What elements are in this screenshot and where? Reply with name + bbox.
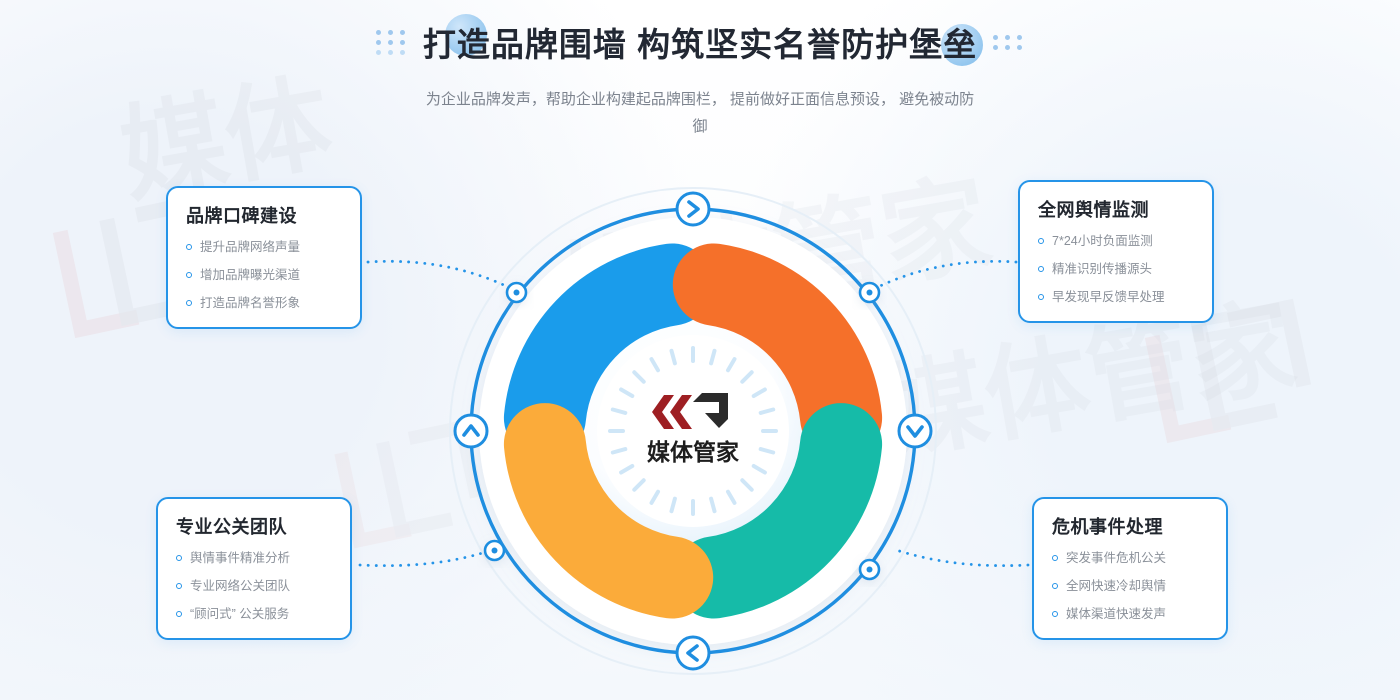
- node-right[interactable]: [899, 415, 931, 447]
- card-item-list: 突发事件危机公关 全网快速冷却舆情 媒体渠道快速发声: [1052, 550, 1210, 622]
- node-left[interactable]: [455, 415, 487, 447]
- bullet-icon: [176, 583, 182, 589]
- bullet-icon: [1038, 294, 1044, 300]
- page-title: 打造品牌围墙 构筑坚实名誉防护堡垒: [423, 18, 977, 66]
- card-title: 危机事件处理: [1052, 513, 1210, 539]
- list-item-label: 媒体渠道快速发声: [1066, 607, 1166, 621]
- bullet-icon: [1052, 555, 1058, 561]
- list-item-label: 提升品牌网络声量: [200, 240, 300, 254]
- bullet-icon: [1038, 238, 1044, 244]
- logo-plate: [597, 335, 789, 527]
- bullet-icon: [186, 272, 192, 278]
- list-item: 媒体渠道快速发声: [1052, 606, 1210, 622]
- page-header: 打造品牌围墙 构筑坚实名誉防护堡垒 为企业品牌发声，帮助企业构建起品牌围栏， 提…: [0, 18, 1400, 140]
- list-item: 精准识别传播源头: [1038, 261, 1196, 277]
- bullet-icon: [1052, 611, 1058, 617]
- brand-wordmark: 媒体管家: [647, 439, 739, 466]
- list-item-label: 精准识别传播源头: [1052, 262, 1152, 276]
- list-item: 舆情事件精准分析: [176, 550, 334, 566]
- list-item: 专业网络公关团队: [176, 578, 334, 594]
- list-item-label: 打造品牌名誉形象: [200, 296, 300, 310]
- card-item-list: 舆情事件精准分析 专业网络公关团队 “顾问式” 公关服务: [176, 550, 334, 622]
- list-item-label: 早发现早反馈早处理: [1052, 290, 1165, 304]
- ring-node-top-left[interactable]: [507, 283, 526, 302]
- card-item-list: 7*24小时负面监测 精准识别传播源头 早发现早反馈早处理: [1038, 233, 1196, 305]
- card-crisis-handling[interactable]: 危机事件处理 突发事件危机公关 全网快速冷却舆情 媒体渠道快速发声: [1032, 497, 1228, 640]
- list-item-label: “顾问式” 公关服务: [190, 607, 289, 621]
- card-brand-reputation[interactable]: 品牌口碑建设 提升品牌网络声量 增加品牌曝光渠道 打造品牌名誉形象: [166, 186, 362, 329]
- card-title: 品牌口碑建设: [186, 202, 344, 228]
- node-top[interactable]: [677, 193, 709, 225]
- list-item: “顾问式” 公关服务: [176, 606, 334, 622]
- bullet-icon: [1052, 583, 1058, 589]
- list-item: 7*24小时负面监测: [1038, 233, 1196, 249]
- bullet-icon: [176, 555, 182, 561]
- bullet-icon: [1038, 266, 1044, 272]
- node-bottom[interactable]: [677, 637, 709, 669]
- bullet-icon: [176, 611, 182, 617]
- bullet-icon: [186, 244, 192, 250]
- list-item: 突发事件危机公关: [1052, 550, 1210, 566]
- list-item-label: 7*24小时负面监测: [1052, 234, 1153, 248]
- decorative-dot-grid-right: [993, 35, 1024, 50]
- title-row: 打造品牌围墙 构筑坚实名誉防护堡垒: [376, 18, 1024, 66]
- page-subtitle: 为企业品牌发声，帮助企业构建起品牌围栏， 提前做好正面信息预设， 避免被动防御: [420, 86, 980, 140]
- card-title: 专业公关团队: [176, 513, 334, 539]
- list-item: 增加品牌曝光渠道: [186, 267, 344, 283]
- card-title: 全网舆情监测: [1038, 196, 1196, 222]
- central-wheel-graphic: 媒体管家: [443, 181, 943, 681]
- list-item: 全网快速冷却舆情: [1052, 578, 1210, 594]
- list-item: 打造品牌名誉形象: [186, 295, 344, 311]
- ring-node-top-right[interactable]: [860, 283, 879, 302]
- card-pr-team[interactable]: 专业公关团队 舆情事件精准分析 专业网络公关团队 “顾问式” 公关服务: [156, 497, 352, 640]
- list-item: 提升品牌网络声量: [186, 239, 344, 255]
- bullet-icon: [186, 300, 192, 306]
- list-item-label: 突发事件危机公关: [1066, 551, 1166, 565]
- card-public-opinion-monitoring[interactable]: 全网舆情监测 7*24小时负面监测 精准识别传播源头 早发现早反馈早处理: [1018, 180, 1214, 323]
- list-item: 早发现早反馈早处理: [1038, 289, 1196, 305]
- ring-node-bottom-left[interactable]: [485, 541, 504, 560]
- list-item-label: 舆情事件精准分析: [190, 551, 290, 565]
- decorative-dot-grid-left: [376, 30, 407, 55]
- card-item-list: 提升品牌网络声量 增加品牌曝光渠道 打造品牌名誉形象: [186, 239, 344, 311]
- list-item-label: 增加品牌曝光渠道: [200, 268, 300, 282]
- list-item-label: 专业网络公关团队: [190, 579, 290, 593]
- list-item-label: 全网快速冷却舆情: [1066, 579, 1166, 593]
- ring-node-bottom-right[interactable]: [860, 560, 879, 579]
